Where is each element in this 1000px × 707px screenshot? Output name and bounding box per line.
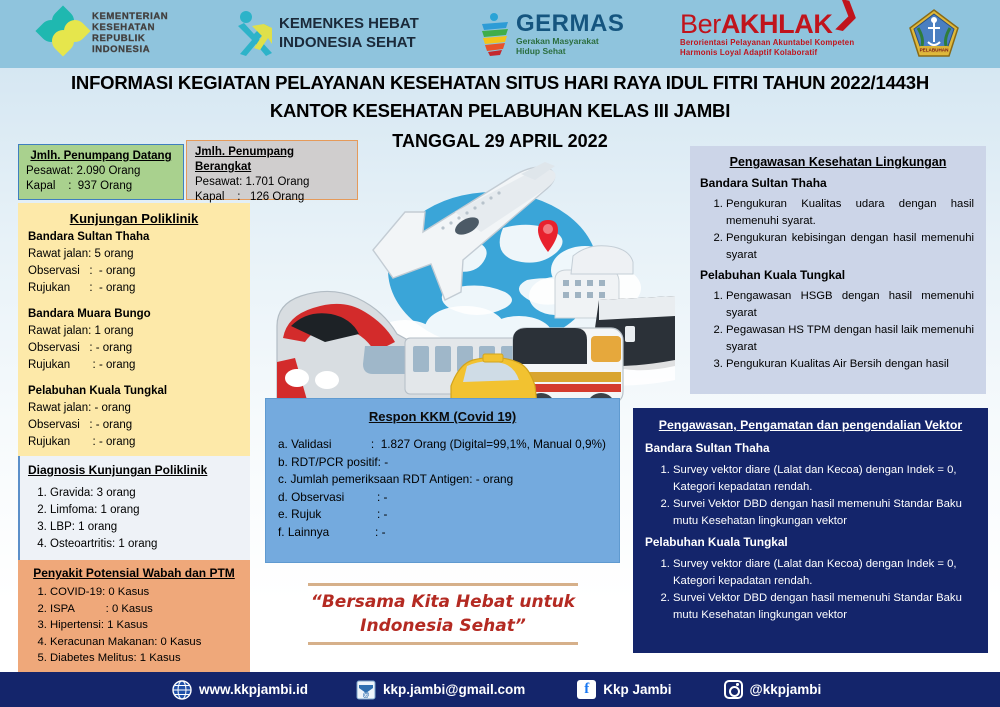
penyakit-item: ISPA : 0 Kasus bbox=[50, 601, 242, 618]
lingkungan-item: Pengukuran Kualitas Air Bersih dengan ha… bbox=[726, 356, 976, 373]
kkp-pelabuhan-emblem-icon: PELABUHAN bbox=[908, 8, 960, 60]
kemenkes-hebat-logo: KEMENKES HEBAT INDONESIA SEHAT bbox=[232, 10, 419, 56]
pelabuhan-logo: PELABUHAN bbox=[908, 8, 960, 60]
infographic-poster: KEMENTERIAN KESEHATAN REPUBLIK INDONESIA… bbox=[0, 0, 1000, 707]
kunjungan-group-0-row-0: Rawat jalan: 5 orang bbox=[28, 246, 240, 263]
penyakit-potensial-card: Penyakit Potensial Wabah dan PTM COVID-1… bbox=[18, 560, 250, 672]
kunjungan-group-0-row-1: Observasi : - orang bbox=[28, 263, 240, 280]
footer-facebook[interactable]: f Kkp Jambi bbox=[577, 680, 671, 699]
kemenkes-petal-mark bbox=[40, 10, 86, 56]
kemenkes-ri-logo: KEMENTERIAN KESEHATAN REPUBLIK INDONESIA bbox=[40, 10, 168, 56]
kemenkes-line-4: INDONESIA bbox=[92, 44, 168, 55]
footer-email-label: kkp.jambi@gmail.com bbox=[383, 682, 525, 697]
diagnosis-item: LBP: 1 orang bbox=[50, 519, 242, 536]
footer-instagram-label: @kkpjambi bbox=[750, 682, 822, 697]
lingkungan-group-1-list: Pengawasan HSGB dengan hasil memenuhi sy… bbox=[726, 288, 976, 373]
germas-sub-1: Gerakan Masyarakat bbox=[516, 36, 624, 46]
title-line-1: INFORMASI KEGIATAN PELAYANAN KESEHATAN S… bbox=[0, 70, 1000, 96]
lingkungan-item: Pengukuran Kualitas udara dengan hasil m… bbox=[726, 196, 976, 230]
diagnosis-item: Limfoma: 1 orang bbox=[50, 502, 242, 519]
slogan-line-1: “Bersama Kita Hebat untuk bbox=[311, 590, 575, 614]
penyakit-item: COVID-19: 0 Kasus bbox=[50, 584, 242, 601]
kunjungan-group-muara-bungo: Bandara Muara Bungo Rawat jalan: 1 orang… bbox=[28, 306, 240, 374]
kunjungan-group-1-row-2: Rujukan : - orang bbox=[28, 357, 240, 374]
respon-kkm-title: Respon KKM (Covid 19) bbox=[278, 407, 607, 426]
spacer bbox=[28, 374, 240, 383]
berakhlak-logo: BerAKHLAK ❯ Berorientasi Pelayanan Akunt… bbox=[680, 11, 854, 58]
penumpang-berangkat-heading: Jmlh. Penumpang Berangkat bbox=[195, 145, 349, 175]
kunjungan-group-0-name: Bandara Sultan Thaha bbox=[28, 229, 240, 246]
vektor-title: Pengawasan, Pengamatan dan pengendalian … bbox=[645, 415, 976, 436]
respon-kkm-row: c. Jumlah pemeriksaan RDT Antigen: - ora… bbox=[278, 471, 607, 489]
footer-facebook-label: Kkp Jambi bbox=[603, 682, 671, 697]
vektor-group-0-list: Survey vektor diare (Lalat dan Kecoa) de… bbox=[673, 462, 976, 530]
kunjungan-title: Kunjungan Poliklinik bbox=[28, 209, 240, 229]
berakhlak-title: BerAKHLAK ❯ bbox=[680, 11, 854, 38]
germas-logo: GERMAS Gerakan Masyarakat Hidup Sehat bbox=[478, 12, 624, 56]
kunjungan-group-1-name: Bandara Muara Bungo bbox=[28, 306, 240, 323]
diagnosis-item: Gravida: 3 orang bbox=[50, 485, 242, 502]
diagnosis-card: Diagnosis Kunjungan Poliklinik Gravida: … bbox=[18, 456, 250, 560]
kunjungan-group-1-row-0: Rawat jalan: 1 orang bbox=[28, 323, 240, 340]
penumpang-datang-heading: Jmlh. Penumpang Datang bbox=[26, 149, 176, 164]
kunjungan-poliklinik-card: Kunjungan Poliklinik Bandara Sultan Thah… bbox=[18, 203, 250, 456]
spacer bbox=[28, 297, 240, 306]
svg-text:@: @ bbox=[363, 692, 370, 699]
slogan-line-2: Indonesia Sehat” bbox=[311, 614, 575, 638]
slogan-text: “Bersama Kita Hebat untuk Indonesia Seha… bbox=[311, 590, 575, 638]
kemenkes-line-3: REPUBLIK bbox=[92, 33, 168, 44]
kunjungan-group-2-row-1: Observasi : - orang bbox=[28, 417, 240, 434]
vektor-item: Survei Vektor DBD dengan hasil memenuhi … bbox=[673, 590, 976, 624]
kemenkes-line-2: KESEHATAN bbox=[92, 22, 168, 33]
penumpang-berangkat-pesawat: Pesawat: 1.701 Orang bbox=[195, 175, 349, 190]
lingkungan-item: Pengukuran kebisingan dengan hasil memen… bbox=[726, 230, 976, 264]
pengawasan-vektor-card: Pengawasan, Pengamatan dan pengendalian … bbox=[633, 408, 988, 653]
germas-sub-2: Hidup Sehat bbox=[516, 46, 624, 56]
vektor-group-1-list: Survey vektor diare (Lalat dan Kecoa) de… bbox=[673, 556, 976, 624]
title-line-2: KANTOR KESEHATAN PELABUHAN KELAS III JAM… bbox=[0, 96, 1000, 126]
email-icon: @ bbox=[356, 680, 376, 700]
respon-kkm-card: Respon KKM (Covid 19) a. Validasi : 1.82… bbox=[265, 398, 620, 563]
lingkungan-item: Pegawasan HS TPM dengan hasil laik memen… bbox=[726, 322, 976, 356]
penyakit-title: Penyakit Potensial Wabah dan PTM bbox=[26, 564, 242, 582]
lingkungan-group-1-name: Pelabuhan Kuala Tungkal bbox=[700, 264, 976, 286]
berakhlak-title-a: Ber bbox=[680, 9, 721, 39]
hebat-person-icon bbox=[232, 10, 272, 56]
kunjungan-group-kuala-tungkal: Pelabuhan Kuala Tungkal Rawat jalan: - o… bbox=[28, 383, 240, 451]
footer-contact-bar: www.kkpjambi.id @ kkp.jambi@gmail.com f … bbox=[0, 672, 1000, 707]
spacer bbox=[278, 426, 607, 436]
respon-kkm-row: b. RDT/PCR positif: - bbox=[278, 454, 607, 472]
pengawasan-lingkungan-card: Pengawasan Kesehatan Lingkungan Bandara … bbox=[690, 146, 986, 394]
kunjungan-group-1-row-1: Observasi : - orang bbox=[28, 340, 240, 357]
vektor-item: Survei Vektor DBD dengan hasil memenuhi … bbox=[673, 496, 976, 530]
penyakit-item: Keracunan Makanan: 0 Kasus bbox=[50, 634, 242, 651]
svg-text:PELABUHAN: PELABUHAN bbox=[920, 48, 950, 53]
penyakit-item: Hipertensi: 1 Kasus bbox=[50, 617, 242, 634]
respon-kkm-row: f. Lainnya : - bbox=[278, 524, 607, 542]
lingkungan-title: Pengawasan Kesehatan Lingkungan bbox=[700, 152, 976, 172]
kunjungan-group-2-row-0: Rawat jalan: - orang bbox=[28, 400, 240, 417]
footer-website[interactable]: www.kkpjambi.id bbox=[172, 680, 308, 700]
diagnosis-title: Diagnosis Kunjungan Poliklinik bbox=[28, 461, 242, 479]
lingkungan-group-0-list: Pengukuran Kualitas udara dengan hasil m… bbox=[726, 196, 976, 264]
diagnosis-list: Gravida: 3 orang Limfoma: 1 orang LBP: 1… bbox=[50, 485, 242, 553]
kunjungan-group-sultan-thaha: Bandara Sultan Thaha Rawat jalan: 5 oran… bbox=[28, 229, 240, 297]
hebat-logo-text: KEMENKES HEBAT INDONESIA SEHAT bbox=[279, 14, 419, 52]
respon-kkm-row: d. Observasi : - bbox=[278, 489, 607, 507]
logo-band: KEMENTERIAN KESEHATAN REPUBLIK INDONESIA… bbox=[0, 0, 1000, 68]
instagram-icon bbox=[724, 680, 743, 699]
kemenkes-ri-logo-text: KEMENTERIAN KESEHATAN REPUBLIK INDONESIA bbox=[92, 11, 168, 55]
vektor-item: Survey vektor diare (Lalat dan Kecoa) de… bbox=[673, 556, 976, 590]
berakhlak-sub-2: Harmonis Loyal Adaptif Kolaboratif bbox=[680, 48, 854, 58]
hebat-line-1: KEMENKES HEBAT bbox=[279, 14, 419, 33]
vektor-group-0-name: Bandara Sultan Thaha bbox=[645, 436, 976, 460]
vektor-group-1-name: Pelabuhan Kuala Tungkal bbox=[645, 530, 976, 554]
penumpang-berangkat-card: Jmlh. Penumpang Berangkat Pesawat: 1.701… bbox=[186, 140, 358, 200]
germas-figure-icon bbox=[478, 12, 512, 56]
footer-email[interactable]: @ kkp.jambi@gmail.com bbox=[356, 680, 525, 700]
respon-kkm-row: a. Validasi : 1.827 Orang (Digital=99,1%… bbox=[278, 436, 607, 454]
slogan-quote-box: “Bersama Kita Hebat untuk Indonesia Seha… bbox=[308, 583, 578, 645]
footer-website-label: www.kkpjambi.id bbox=[199, 682, 308, 697]
berakhlak-swoosh-icon: ❯ bbox=[832, 0, 864, 34]
penumpang-datang-pesawat: Pesawat: 2.090 Orang bbox=[26, 164, 176, 179]
kunjungan-group-2-name: Pelabuhan Kuala Tungkal bbox=[28, 383, 240, 400]
lingkungan-item: Pengawasan HSGB dengan hasil memenuhi sy… bbox=[726, 288, 976, 322]
lingkungan-group-0-name: Bandara Sultan Thaha bbox=[700, 172, 976, 194]
globe-icon bbox=[172, 680, 192, 700]
hebat-line-2: INDONESIA SEHAT bbox=[279, 33, 419, 52]
kunjungan-group-0-row-2: Rujukan : - orang bbox=[28, 280, 240, 297]
footer-instagram[interactable]: @kkpjambi bbox=[724, 680, 822, 699]
berakhlak-title-b: AKHLAK bbox=[721, 9, 833, 39]
kunjungan-group-2-row-2: Rujukan : - orang bbox=[28, 434, 240, 451]
diagnosis-item: Osteoartritis: 1 orang bbox=[50, 536, 242, 553]
penumpang-datang-kapal: Kapal : 937 Orang bbox=[26, 179, 176, 194]
vektor-item: Survey vektor diare (Lalat dan Kecoa) de… bbox=[673, 462, 976, 496]
facebook-icon: f bbox=[577, 680, 596, 699]
germas-title: GERMAS bbox=[516, 12, 624, 36]
penumpang-datang-card: Jmlh. Penumpang Datang Pesawat: 2.090 Or… bbox=[18, 144, 184, 200]
berakhlak-sub-1: Berorientasi Pelayanan Akuntabel Kompete… bbox=[680, 38, 854, 48]
respon-kkm-row: e. Rujuk : - bbox=[278, 506, 607, 524]
kemenkes-line-1: KEMENTERIAN bbox=[92, 11, 168, 22]
